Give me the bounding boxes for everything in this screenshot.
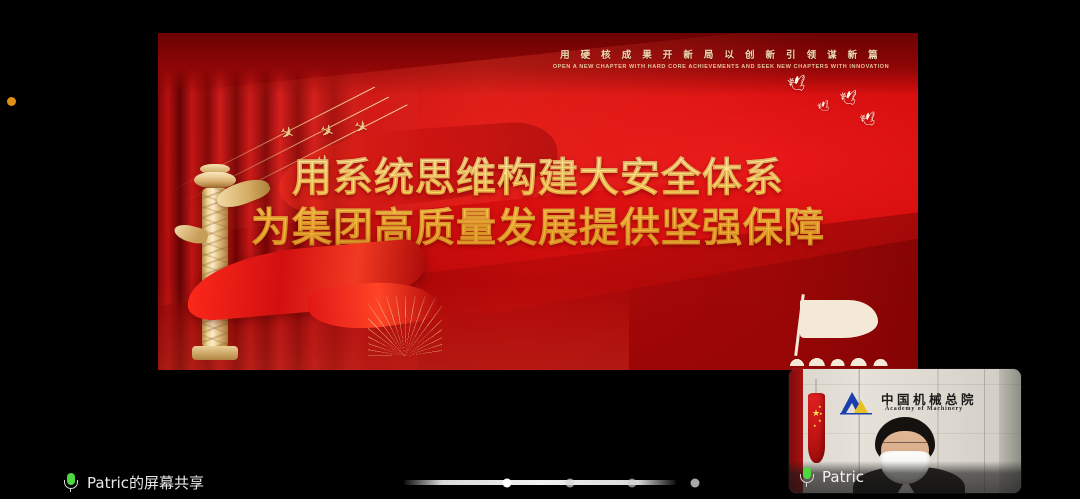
screen-share-viewport: 用 硬 核 成 果 开 新 局 以 创 新 引 领 谋 新 篇 OPEN A N… [0, 0, 1080, 499]
dove-icon: 🕊 [787, 75, 809, 94]
screen-share-label-text: Patric的屏幕共享 [87, 472, 204, 493]
dove-icon: 🕊 [817, 101, 832, 115]
dove-icon: 🕊 [839, 90, 859, 106]
slider-dot[interactable] [628, 478, 637, 487]
participant-name: Patric [822, 468, 864, 486]
slide-position-slider[interactable] [404, 480, 676, 485]
slider-dot[interactable] [691, 478, 700, 487]
slide-title: 用系统思维构建大安全体系 为集团高质量发展提供坚强保障 [158, 153, 918, 254]
triangle-mountain-logo-icon [839, 389, 873, 415]
slider-dot[interactable] [565, 478, 574, 487]
participant-video-tile[interactable]: ★ ★ ★ ★ ★ 中国机械总院 Academy of Machinery [789, 369, 1021, 493]
dove-group-decor: 🕊 🕊 🕊 🕊 [780, 75, 900, 145]
org-name-en: Academy of Machinery [885, 406, 963, 412]
firework-burst-icon [368, 296, 442, 356]
airplane-icon: ✈ [351, 117, 372, 139]
participant-name-badge: Patric [789, 461, 1021, 493]
screen-share-label: Patric的屏幕共享 [63, 472, 204, 493]
status-dot [7, 97, 16, 106]
microphone-icon [63, 473, 78, 493]
china-flag-icon: ★ ★ ★ ★ ★ [805, 379, 829, 465]
flag-silhouette-icon [770, 292, 900, 366]
airplane-icon: ✈ [277, 123, 298, 145]
dove-icon: 🕊 [859, 111, 878, 128]
airplane-icon: ✈ [317, 121, 338, 143]
shared-slide[interactable]: 用 硬 核 成 果 开 新 局 以 创 新 引 领 谋 新 篇 OPEN A N… [158, 33, 918, 370]
microphone-icon [799, 467, 814, 487]
slider-dot[interactable] [503, 478, 512, 487]
